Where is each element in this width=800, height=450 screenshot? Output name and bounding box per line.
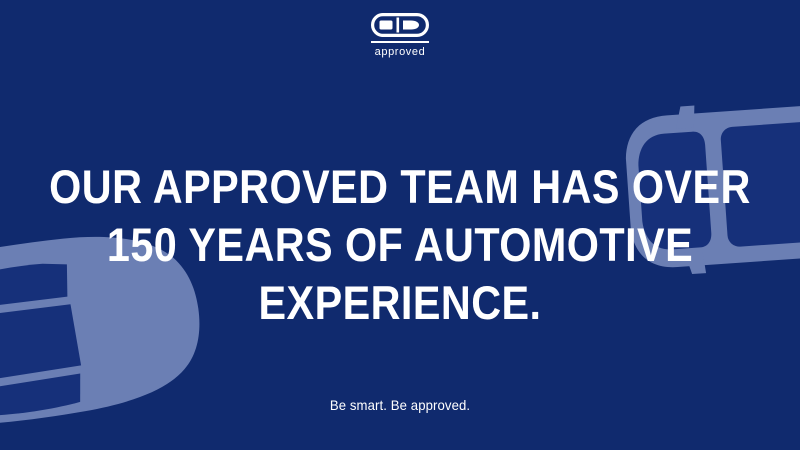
car-top-view-icon [371, 13, 429, 37]
headline-line-1: OUR APPROVED TEAM HAS OVER [48, 158, 752, 216]
page-title: OUR APPROVED TEAM HAS OVER 150 YEARS OF … [48, 158, 752, 332]
headline-line-2: 150 YEARS OF AUTOMOTIVE [48, 216, 752, 274]
headline-line-3: EXPERIENCE. [48, 274, 752, 332]
slide-canvas: approved OUR APPROVED TEAM HAS OVER 150 … [0, 0, 800, 450]
logo-divider-rule [371, 41, 429, 43]
tagline: Be smart. Be approved. [24, 396, 776, 414]
logo-wordmark: approved [0, 45, 800, 59]
brand-logo: approved [0, 13, 800, 59]
